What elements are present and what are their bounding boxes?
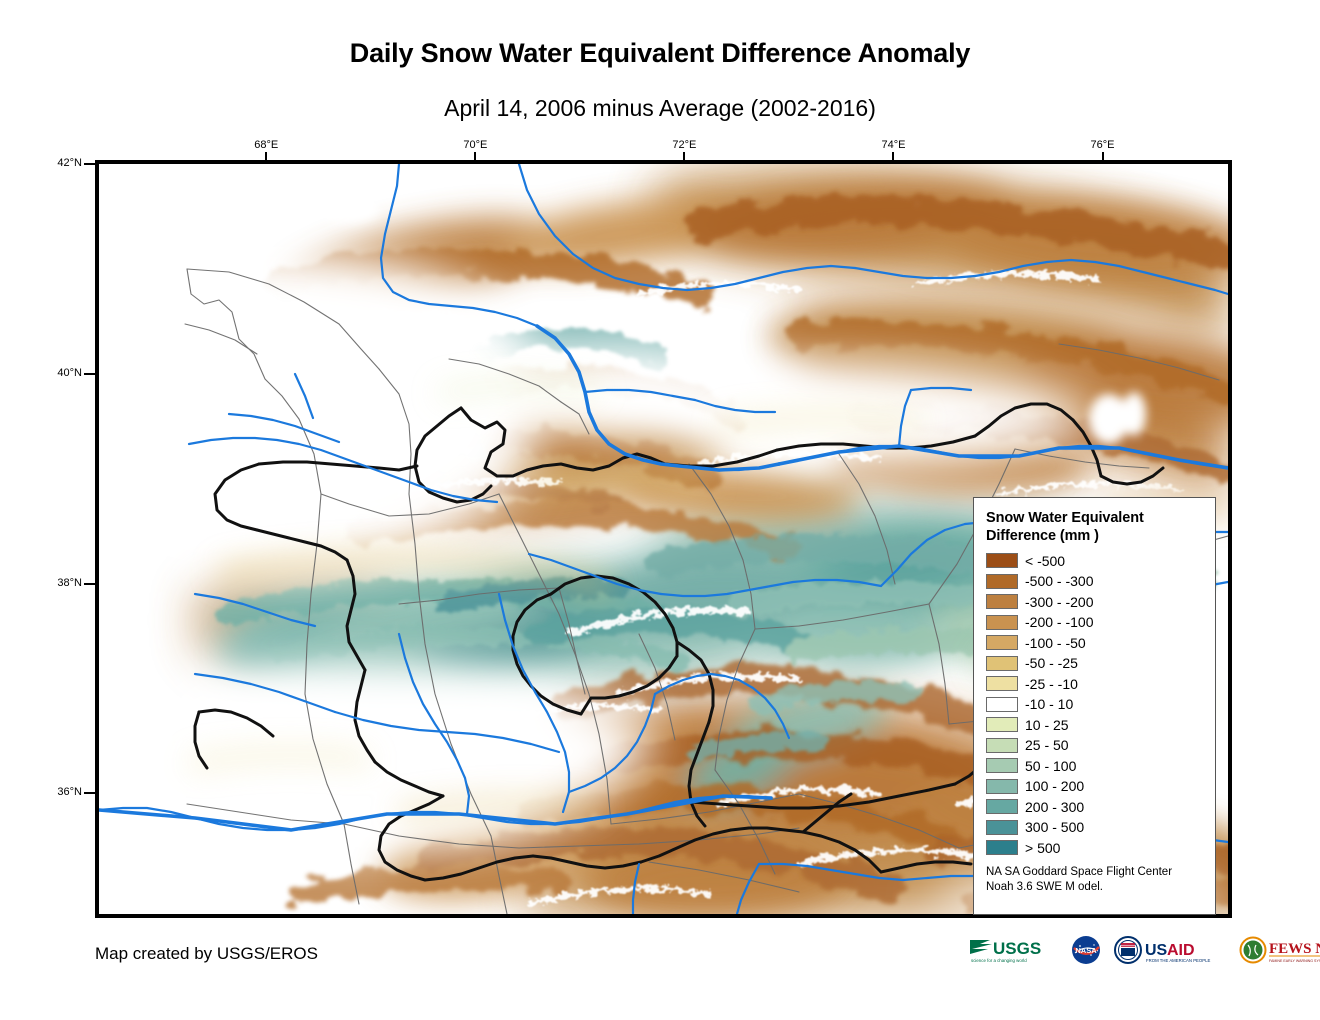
lon-label: 70°E (445, 139, 505, 151)
legend-row: -100 - -50 (986, 632, 1205, 653)
lat-tick (84, 583, 96, 585)
page-title: Daily Snow Water Equivalent Difference A… (0, 38, 1320, 69)
lon-label: 72°E (654, 139, 714, 151)
legend-note-line1: NA SA Goddard Space Flight Center (986, 865, 1205, 880)
lat-label: 36°N (36, 786, 82, 798)
lon-label: 68°E (236, 139, 296, 151)
legend-row: -25 - -10 (986, 673, 1205, 694)
legend-title-line2: Difference (mm ) (986, 528, 1205, 546)
legend-row: -500 - -300 (986, 571, 1205, 592)
legend-source-note: NA SA Goddard Space Flight Center Noah 3… (986, 865, 1205, 895)
legend-swatch (986, 656, 1018, 671)
legend-panel[interactable]: Snow Water Equivalent Difference (mm ) <… (973, 497, 1216, 915)
legend-label: -100 - -50 (1025, 636, 1086, 650)
svg-text:US: US (1145, 942, 1168, 959)
legend-row: 10 - 25 (986, 714, 1205, 735)
legend-row: 200 - 300 (986, 796, 1205, 817)
legend-label: 25 - 50 (1025, 738, 1069, 752)
legend-row: -200 - -100 (986, 612, 1205, 633)
legend-row: 100 - 200 (986, 776, 1205, 797)
svg-text:USGS: USGS (993, 939, 1041, 958)
legend-class-list: < -500-500 - -300-300 - -200-200 - -100-… (986, 550, 1205, 858)
legend-swatch (986, 799, 1018, 814)
usgs-logo: USGS science for a changing world (968, 934, 1060, 966)
legend-swatch (986, 697, 1018, 712)
legend-swatch (986, 820, 1018, 835)
legend-row: > 500 (986, 837, 1205, 858)
legend-label: > 500 (1025, 841, 1060, 855)
svg-text:AID: AID (1167, 942, 1195, 959)
lon-label: 76°E (1073, 139, 1133, 151)
agency-logos: USGS science for a changing world NASA U… (968, 934, 1320, 966)
legend-swatch (986, 738, 1018, 753)
map-credit: Map created by USGS/EROS (95, 944, 318, 964)
legend-swatch (986, 615, 1018, 630)
legend-label: 50 - 100 (1025, 759, 1076, 773)
lat-tick (84, 373, 96, 375)
legend-swatch (986, 717, 1018, 732)
legend-note-line2: Noah 3.6 SWE M odel. (986, 880, 1205, 895)
nasa-logo: NASA (1069, 934, 1103, 966)
lon-label: 74°E (863, 139, 923, 151)
lat-tick (84, 163, 96, 165)
legend-label: < -500 (1025, 554, 1065, 568)
legend-swatch (986, 553, 1018, 568)
legend-swatch (986, 635, 1018, 650)
legend-swatch (986, 779, 1018, 794)
svg-text:FAMINE EARLY WARNING SYSTEMS N: FAMINE EARLY WARNING SYSTEMS NETWORK (1269, 959, 1320, 963)
legend-swatch (986, 840, 1018, 855)
legend-label: -50 - -25 (1025, 656, 1078, 670)
legend-label: -200 - -100 (1025, 615, 1093, 629)
lat-tick (84, 792, 96, 794)
legend-swatch (986, 758, 1018, 773)
svg-text:FEWS NET: FEWS NET (1269, 941, 1320, 957)
lon-tick (892, 152, 894, 164)
legend-label: -500 - -300 (1025, 574, 1093, 588)
legend-label: -10 - 10 (1025, 697, 1073, 711)
legend-row: 25 - 50 (986, 735, 1205, 756)
page-subtitle: April 14, 2006 minus Average (2002-2016) (0, 95, 1320, 122)
legend-row: < -500 (986, 550, 1205, 571)
fewsnet-logo: FEWS NET FAMINE EARLY WARNING SYSTEMS NE… (1239, 934, 1320, 966)
legend-row: -10 - 10 (986, 694, 1205, 715)
legend-label: 10 - 25 (1025, 718, 1069, 732)
legend-row: -50 - -25 (986, 653, 1205, 674)
lon-tick (474, 152, 476, 164)
usaid-logo: US AID FROM THE AMERICAN PEOPLE (1112, 934, 1230, 966)
legend-label: -25 - -10 (1025, 677, 1078, 691)
legend-row: 300 - 500 (986, 817, 1205, 838)
legend-label: 100 - 200 (1025, 779, 1084, 793)
svg-text:FROM THE AMERICAN PEOPLE: FROM THE AMERICAN PEOPLE (1146, 958, 1211, 963)
legend-swatch (986, 594, 1018, 609)
lon-tick (683, 152, 685, 164)
lat-label: 42°N (36, 157, 82, 169)
lat-label: 38°N (36, 577, 82, 589)
lon-tick (1102, 152, 1104, 164)
legend-row: -300 - -200 (986, 591, 1205, 612)
svg-text:science for a changing world: science for a changing world (971, 958, 1027, 963)
legend-swatch (986, 574, 1018, 589)
lon-tick (265, 152, 267, 164)
legend-label: -300 - -200 (1025, 595, 1093, 609)
legend-label: 300 - 500 (1025, 820, 1084, 834)
legend-title-line1: Snow Water Equivalent (986, 510, 1205, 528)
lat-label: 40°N (36, 367, 82, 379)
svg-text:NASA: NASA (1075, 946, 1097, 955)
legend-swatch (986, 676, 1018, 691)
legend-title: Snow Water Equivalent Difference (mm ) (986, 510, 1205, 545)
legend-row: 50 - 100 (986, 755, 1205, 776)
legend-label: 200 - 300 (1025, 800, 1084, 814)
